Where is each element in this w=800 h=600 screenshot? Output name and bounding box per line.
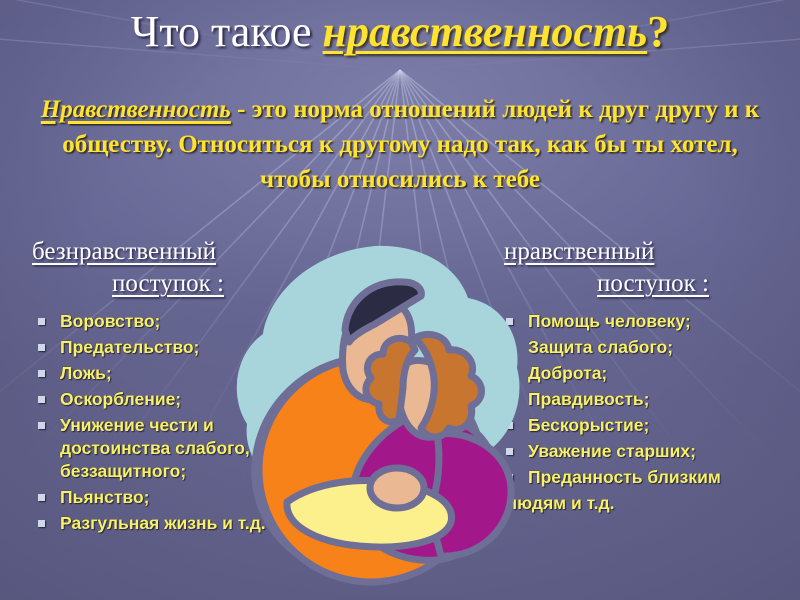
square-bullet-icon <box>38 422 45 429</box>
square-bullet-icon <box>38 318 45 325</box>
definition-term: Нравственность <box>41 96 231 123</box>
list-item-label: Унижение чести и достоинства слабого, бе… <box>60 415 250 481</box>
list-item: людям и т.д. <box>492 492 792 515</box>
list-item-label: Предательство; <box>60 337 199 357</box>
list-item: Бескорыстие; <box>492 414 792 437</box>
list-item-label: Оскорбление; <box>60 389 181 409</box>
slide-title: Что такое нравственность? <box>0 6 800 58</box>
slide-title-emphasis: нравственность <box>323 7 648 56</box>
list-item-label: Уважение старших; <box>528 441 696 461</box>
column-immoral-heading-line1: безнравственный <box>32 236 216 268</box>
list-item-label: Помощь человеку; <box>528 311 691 331</box>
column-moral-heading-line2: поступок : <box>504 268 792 300</box>
definition-paragraph: Нравственность - это норма отношений люд… <box>36 92 764 197</box>
list-item-label: Защита слабого; <box>528 337 673 357</box>
list-item-label: Преданность близким <box>528 467 721 487</box>
list-item: Правдивость; <box>492 388 792 411</box>
list-item-label: Пьянство; <box>60 487 149 507</box>
family-embrace-illustration <box>225 238 535 586</box>
slide-title-question-mark: ? <box>647 7 669 56</box>
column-moral: нравственный поступок : Помощь человеку;… <box>492 236 792 518</box>
square-bullet-icon <box>38 396 45 403</box>
list-item-label: Правдивость; <box>528 389 650 409</box>
list-item: Преданность близким <box>492 466 792 489</box>
baby-head <box>370 468 424 508</box>
list-item-label: Ложь; <box>60 363 112 383</box>
list-item-label: Доброта; <box>528 363 607 383</box>
list-item-label: Воровство; <box>60 311 160 331</box>
list-item: Уважение старших; <box>492 440 792 463</box>
column-moral-heading: нравственный поступок : <box>492 236 792 300</box>
slide-title-prefix: Что такое <box>131 7 323 56</box>
list-item: Помощь человеку; <box>492 310 792 333</box>
square-bullet-icon <box>38 370 45 377</box>
slide-canvas: Что такое нравственность? Нравственность… <box>0 0 800 600</box>
square-bullet-icon <box>38 494 45 501</box>
square-bullet-icon <box>38 520 45 527</box>
list-item-label: Бескорыстие; <box>528 415 649 435</box>
list-item: Доброта; <box>492 362 792 385</box>
list-item: Защита слабого; <box>492 336 792 359</box>
moral-list: Помощь человеку; Защита слабого; Доброта… <box>492 310 792 515</box>
square-bullet-icon <box>38 344 45 351</box>
